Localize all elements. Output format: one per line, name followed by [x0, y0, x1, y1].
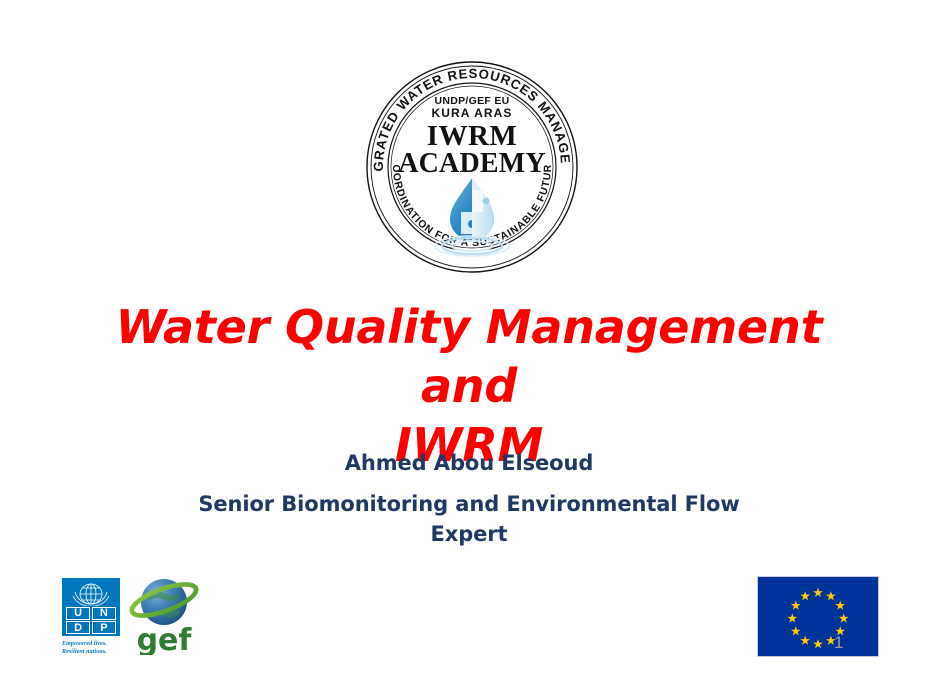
undp-logo: U N D P Empowered lives. Resilient natio…: [62, 578, 124, 656]
gef-logo: gef: [128, 573, 200, 655]
undp-flag: U N D P: [62, 578, 120, 636]
undp-letter-u: U: [66, 607, 90, 620]
slide-number: 1: [834, 634, 843, 651]
undp-letter-d: D: [66, 621, 90, 634]
presenter-role: Senior Biomonitoring and Environmental F…: [110, 489, 828, 550]
gef-graphic: gef: [128, 573, 200, 655]
undp-letter-n: N: [92, 607, 116, 620]
slide-canvas: INTEGRATED WATER RESOURCES MANAGEMENT CO…: [0, 0, 938, 697]
iwrm-academy-seal: INTEGRATED WATER RESOURCES MANAGEMENT CO…: [365, 60, 579, 274]
presenter-block: Ahmed Abou Elseoud Senior Biomonitoring …: [110, 448, 828, 549]
seal-line-2: KURA ARAS: [431, 106, 512, 120]
undp-letter-p: P: [92, 621, 116, 634]
undp-letter-grid: U N D P: [66, 607, 116, 634]
eu-flag-graphic: [758, 577, 878, 656]
seal-line-4: ACADEMY: [398, 148, 546, 179]
gef-wordmark: gef: [137, 623, 193, 655]
un-emblem-icon: [66, 580, 116, 606]
seal-graphic: INTEGRATED WATER RESOURCES MANAGEMENT CO…: [365, 60, 579, 274]
undp-tagline: Empowered lives. Resilient nations.: [62, 640, 124, 656]
european-union-flag: [757, 576, 879, 657]
presenter-name: Ahmed Abou Elseoud: [110, 448, 828, 480]
